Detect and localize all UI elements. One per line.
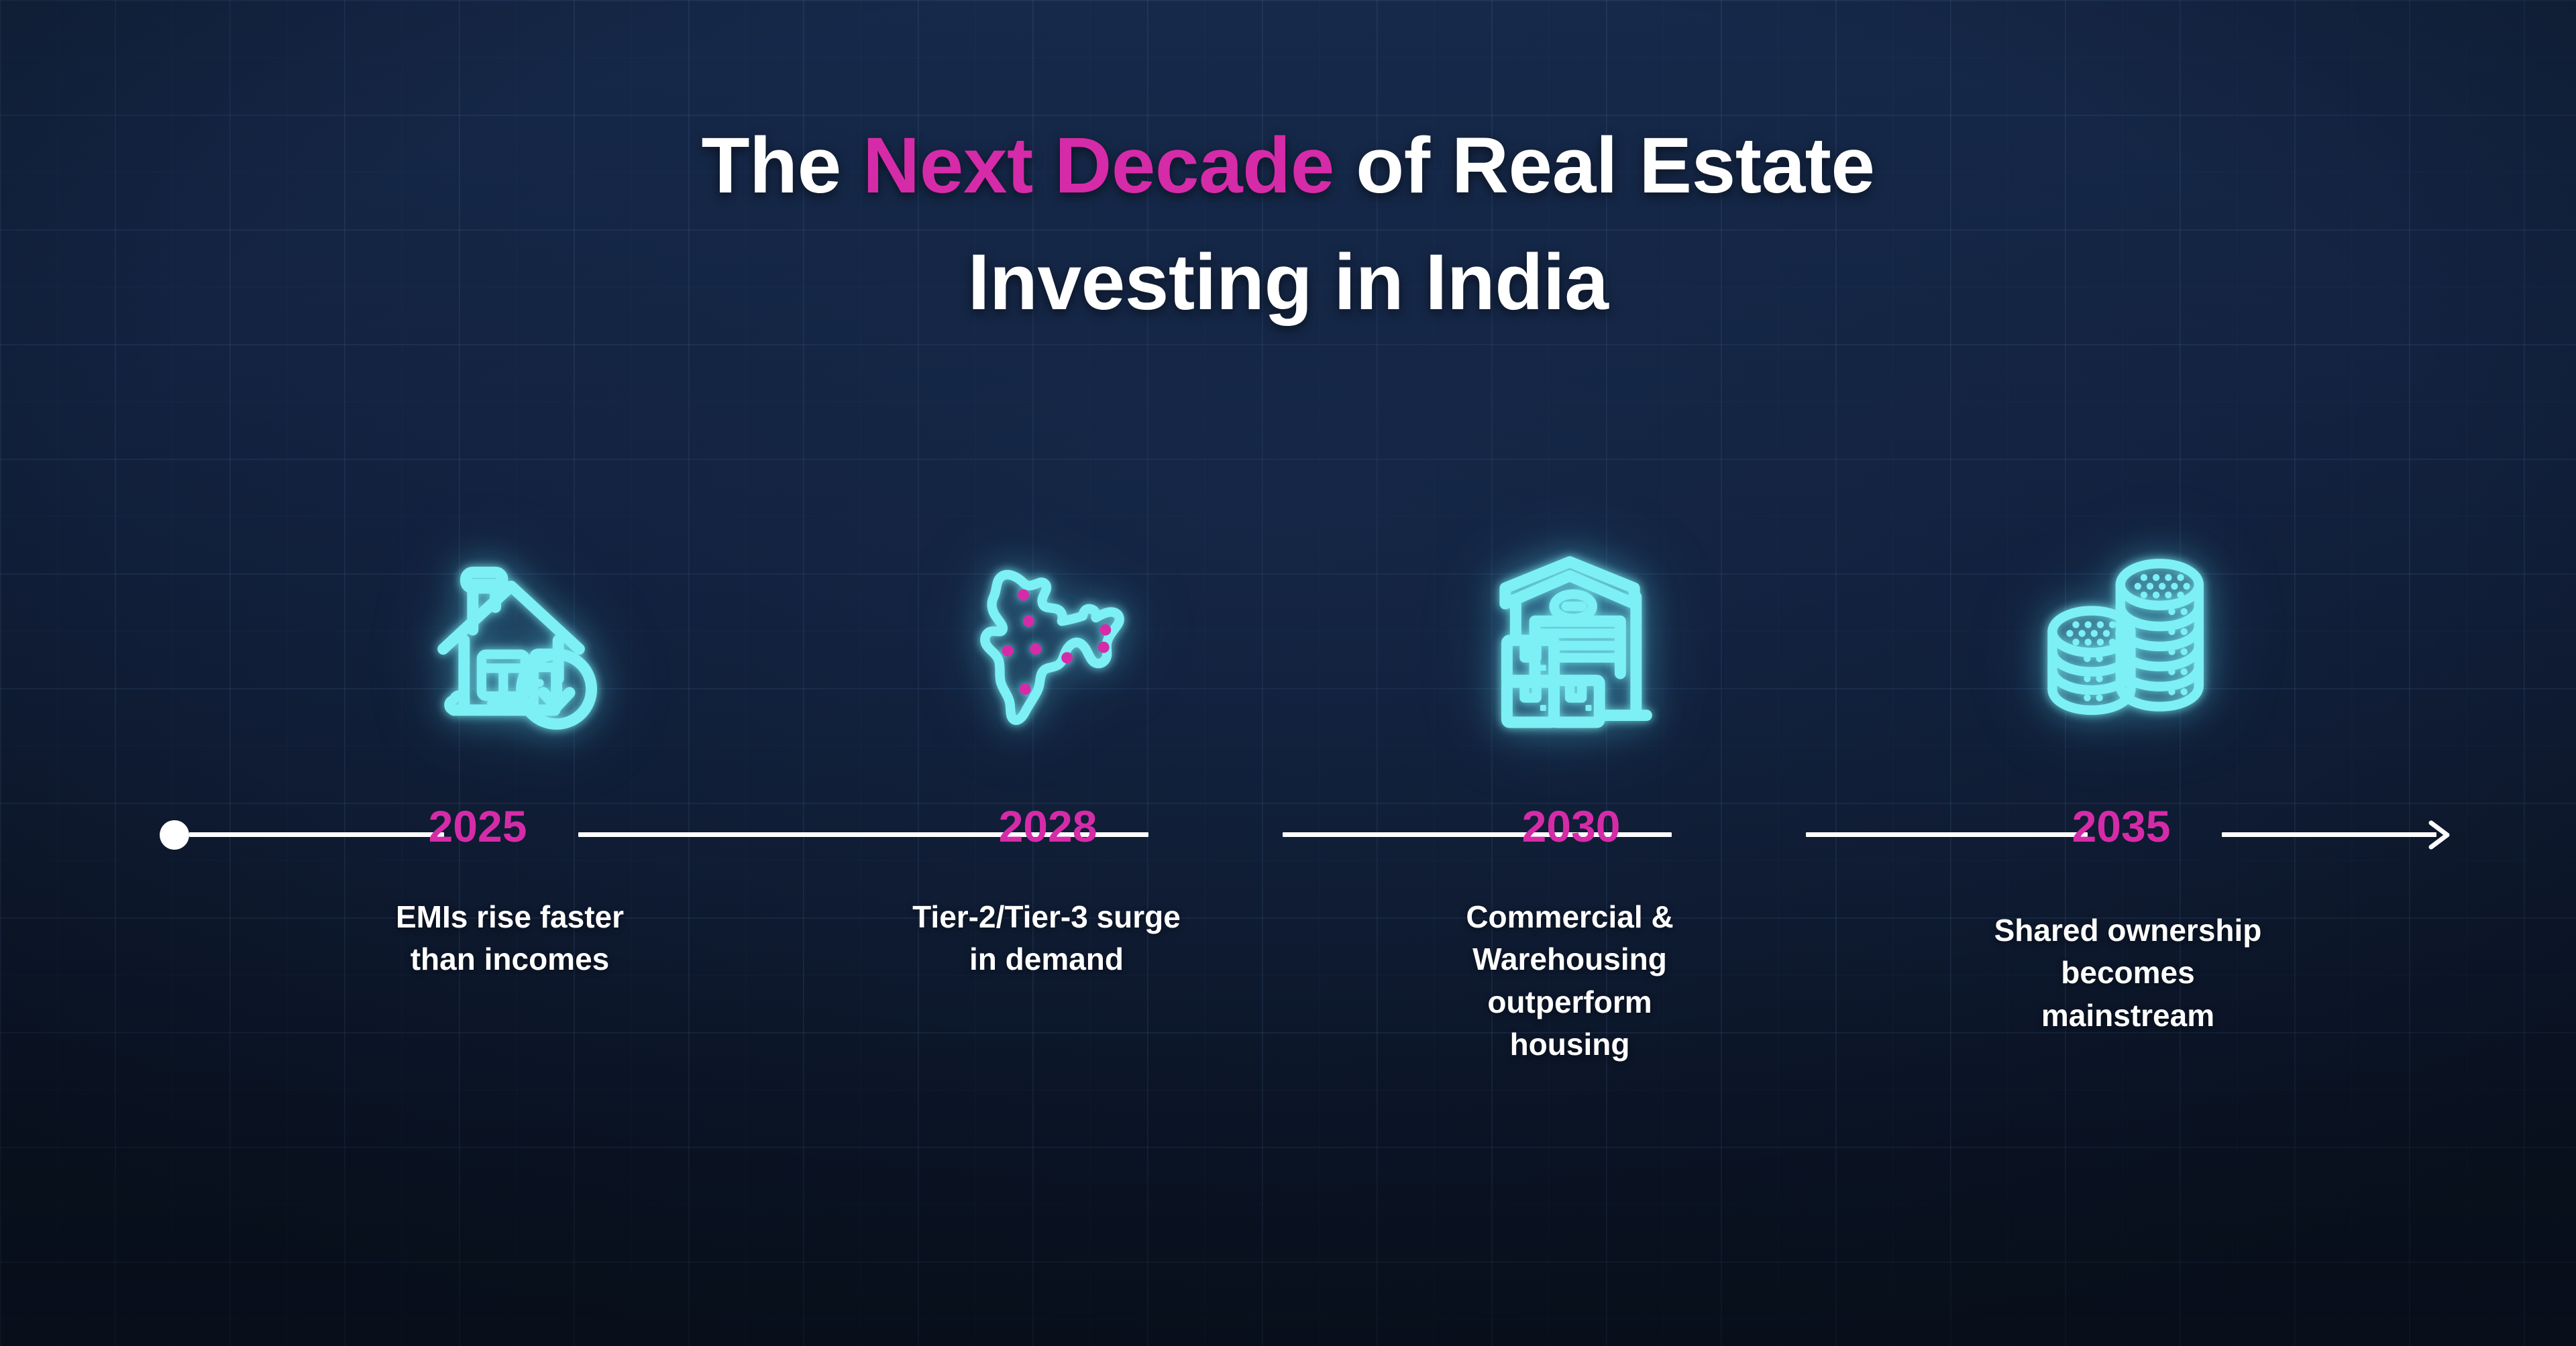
caption-line: Commercial &: [1368, 896, 1771, 938]
timeline-year-2035: 2035: [2021, 804, 2222, 848]
house-price-down-icon: [424, 557, 598, 731]
page-title: The Next Decade of Real Estate Investing…: [0, 126, 2576, 322]
caption-line: becomes: [1920, 952, 2336, 994]
infographic-canvas: The Next Decade of Real Estate Investing…: [0, 0, 2576, 1346]
milestone-caption-2025: EMIs rise faster than incomes: [302, 896, 718, 981]
caption-line: than incomes: [302, 938, 718, 980]
caption-line: mainstream: [1920, 995, 2336, 1037]
timeline-year-2025: 2025: [377, 804, 578, 848]
milestone-caption-2028: Tier-2/Tier-3 surge in demand: [839, 896, 1254, 981]
timeline-year-2030: 2030: [1470, 804, 1672, 848]
timeline-segment-5: [2222, 832, 2436, 837]
title-text-after: of Real Estate: [1334, 121, 1875, 210]
caption-line: housing: [1368, 1023, 1771, 1066]
caption-line: Warehousing: [1368, 938, 1771, 980]
milestone-caption-2030: Commercial & Warehousing outperform hous…: [1368, 896, 1771, 1066]
title-text-before: The: [701, 121, 863, 210]
timeline-year-2028: 2028: [947, 804, 1148, 848]
caption-line: Shared ownership: [1920, 909, 2336, 952]
caption-line: in demand: [839, 938, 1254, 980]
title-line-2: Investing in India: [0, 243, 2576, 322]
warehouse-boxes-icon: [1483, 557, 1657, 731]
milestone-caption-2035: Shared ownership becomes mainstream: [1920, 909, 2336, 1037]
timeline-start-dot: [160, 820, 189, 850]
india-map-pins-icon: [961, 557, 1135, 731]
caption-line: EMIs rise faster: [302, 896, 718, 938]
coin-stacks-icon: [2037, 557, 2211, 731]
caption-line: Tier-2/Tier-3 surge: [839, 896, 1254, 938]
title-line-1: The Next Decade of Real Estate: [0, 126, 2576, 205]
title-accent-text: Next Decade: [863, 121, 1334, 210]
caption-line: outperform: [1368, 981, 1771, 1023]
timeline-arrow-right-icon: [2419, 815, 2459, 855]
